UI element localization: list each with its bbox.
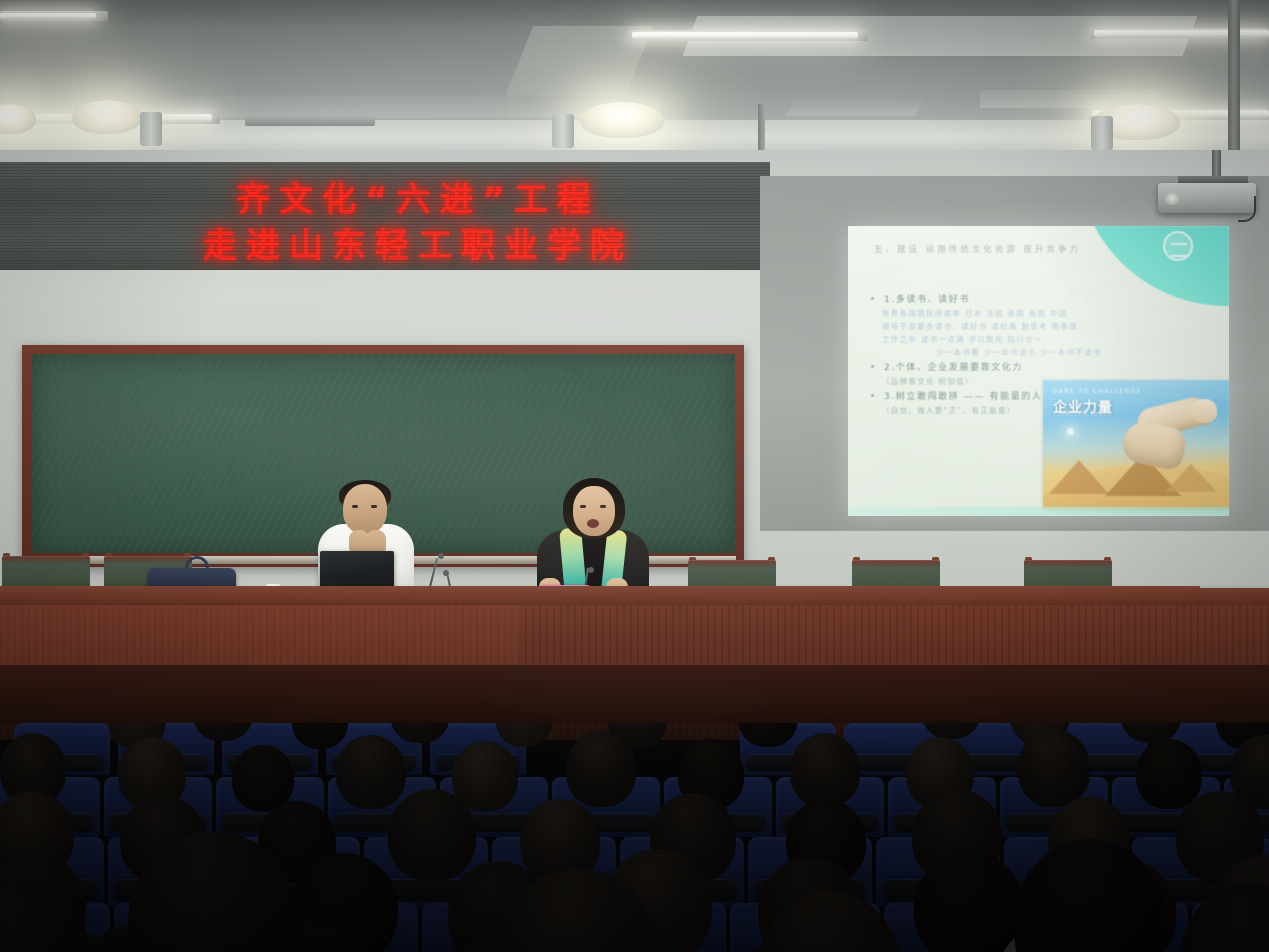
lecture-hall-photo: 齐文化“六进”工程 走进山东轻工职业学院 五、建设 运用传统文化资源 提升竞争力… xyxy=(0,0,1269,952)
brand-logo-icon xyxy=(1163,231,1193,261)
dome-light-1-stem xyxy=(140,112,162,146)
dome-light-3-stem xyxy=(1091,116,1113,150)
woman-eye-left xyxy=(580,505,586,508)
presentation-slide: 五、建设 运用传统文化资源 提升竞争力 1.多读书、读好书 世界各国国民阅读率 … xyxy=(848,226,1229,516)
audience-head xyxy=(232,745,294,811)
poster-sun xyxy=(1067,428,1074,435)
projector-bracket xyxy=(1178,176,1248,183)
woman-eye-right xyxy=(600,505,606,508)
slide-bullet-1-sub-3: 工作之中 读书一点通 学以致用 知行合一 xyxy=(882,334,1221,345)
slide-title: 五、建设 运用传统文化资源 提升竞争力 xyxy=(874,243,1081,255)
audience-head xyxy=(1018,729,1090,807)
poster-pyramid-1 xyxy=(1049,460,1109,494)
man-eye-left xyxy=(352,505,358,508)
fluorescent-tube-2 xyxy=(632,32,858,39)
slide-poster-image: DARE TO CHALLENGE 企业力量 CORPORATE POWER xyxy=(1043,380,1229,510)
dome-light-2 xyxy=(580,102,664,138)
audience-head xyxy=(388,789,476,881)
dome-light-2-stem xyxy=(552,114,574,148)
projection-screen-frame: 五、建设 运用传统文化资源 提升竞争力 1.多读书、读好书 世界各国国民阅读率 … xyxy=(760,176,1269,531)
fluorescent-tube-1 xyxy=(0,13,96,19)
ceiling-conduit xyxy=(758,104,765,150)
audience-head xyxy=(790,733,860,807)
slide-extra-sub: 少一本书看 少一本书读书 少一本书不读书 xyxy=(936,347,1221,358)
poster-headline-en: DARE TO CHALLENGE xyxy=(1053,388,1142,395)
audience-head xyxy=(566,731,636,807)
slide-bullet-1-sub-1: 世界各国国民阅读率 日本 法国 美国 英国 中国 xyxy=(882,308,1221,319)
slide-bullet-1: 1.多读书、读好书 xyxy=(864,292,1221,305)
audience-back-wall xyxy=(0,665,1269,723)
projection-screen: 五、建设 运用传统文化资源 提升竞争力 1.多读书、读好书 世界各国国民阅读率 … xyxy=(848,226,1229,516)
tube-housing-6 xyxy=(245,116,375,126)
audience xyxy=(0,665,1269,952)
dome-light-1 xyxy=(72,100,142,134)
slide-bullet-1-sub-2: 领导干部要多读书、读好书 读经典 勤思考 明事理 xyxy=(882,321,1221,332)
fluorescent-tube-3 xyxy=(1094,30,1269,37)
audience-head xyxy=(336,735,406,809)
man-head xyxy=(343,484,387,534)
ceiling-patch-2 xyxy=(785,100,924,116)
slide-footer-bar xyxy=(848,507,1229,516)
audience-head xyxy=(1136,739,1202,809)
led-banner-line-2: 走进山东轻工职业学院 xyxy=(118,218,718,267)
led-banner: 齐文化“六进”工程 走进山东轻工职业学院 xyxy=(0,162,770,270)
man-eye-right xyxy=(371,505,377,508)
ceiling-pipe xyxy=(1228,0,1240,150)
led-banner-line-1: 齐文化“六进”工程 xyxy=(118,172,718,221)
poster-flexed-arm xyxy=(1121,402,1213,476)
woman-mouth xyxy=(587,519,599,528)
poster-subline: CORPORATE POWER xyxy=(1054,413,1111,418)
slide-bullet-2: 2.个体、企业发展要靠文化力 xyxy=(864,360,1221,373)
woman-head xyxy=(573,486,615,536)
